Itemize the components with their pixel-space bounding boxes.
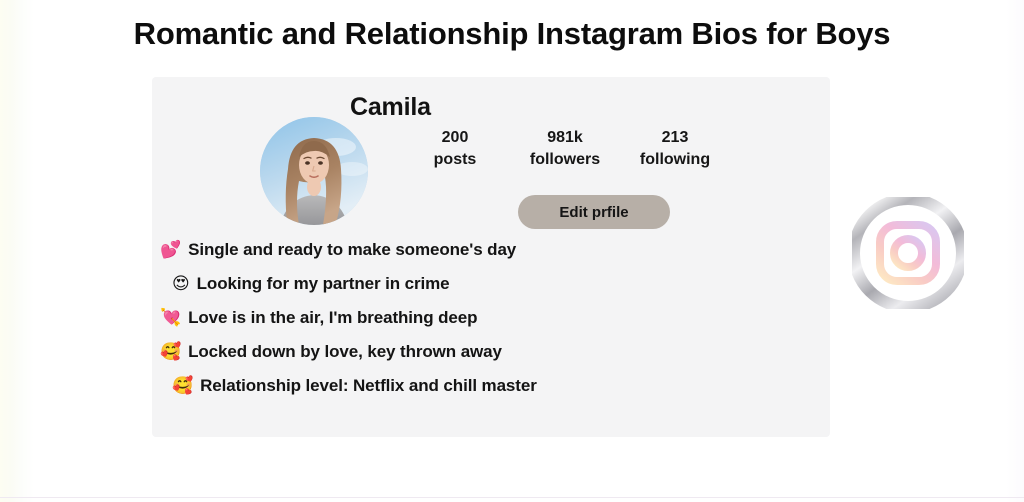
bio-line-2-text: Looking for my partner in crime	[197, 274, 450, 294]
bio-line-4-text: Locked down by love, key thrown away	[188, 342, 502, 362]
stat-posts-value: 200	[400, 127, 510, 149]
bio-line-5-text: Relationship level: Netflix and chill ma…	[200, 376, 537, 396]
stat-followers-label: followers	[510, 149, 620, 171]
stat-posts-label: posts	[400, 149, 510, 171]
bottom-divider	[0, 497, 1024, 498]
bio-line-1-text: Single and ready to make someone's day	[188, 240, 516, 260]
bio-line-2: 😍 Looking for my partner in crime	[160, 267, 800, 301]
avatar[interactable]	[260, 117, 368, 225]
two-hearts-emoji: 💕	[160, 242, 181, 259]
bio-line-5: 🥰 Relationship level: Netflix and chill …	[160, 369, 800, 403]
smiling-face-with-hearts-emoji: 🥰	[172, 378, 193, 395]
bio-line-4: 🥰 Locked down by love, key thrown away	[160, 335, 800, 369]
stat-following-label: following	[620, 149, 730, 171]
bio-line-3-text: Love is in the air, I'm breathing deep	[188, 308, 477, 328]
stat-following[interactable]: 213 following	[620, 127, 730, 170]
instagram-profile-card: Camila 200 posts 981k followers 213 foll…	[152, 77, 830, 437]
heart-with-arrow-emoji: 💘	[160, 310, 181, 327]
stat-following-value: 213	[620, 127, 730, 149]
bio-line-1: 💕 Single and ready to make someone's day	[160, 233, 800, 267]
smiling-face-heart-eyes-emoji: 😍	[172, 276, 190, 293]
right-edge-tint	[1006, 0, 1024, 502]
profile-display-name: Camila	[350, 93, 431, 122]
smiling-face-with-hearts-emoji: 🥰	[160, 344, 181, 361]
edit-profile-button[interactable]: Edit prfile	[518, 195, 670, 229]
stat-posts[interactable]: 200 posts	[400, 127, 510, 170]
left-edge-tint	[0, 0, 34, 502]
bio-line-3: 💘 Love is in the air, I'm breathing deep	[160, 301, 800, 335]
bio-list: 💕 Single and ready to make someone's day…	[160, 233, 800, 403]
stat-followers[interactable]: 981k followers	[510, 127, 620, 170]
instagram-logo-icon[interactable]	[852, 197, 964, 309]
page-title: Romantic and Relationship Instagram Bios…	[0, 16, 1024, 52]
stat-followers-value: 981k	[510, 127, 620, 149]
profile-stats: 200 posts 981k followers 213 following	[400, 127, 730, 170]
